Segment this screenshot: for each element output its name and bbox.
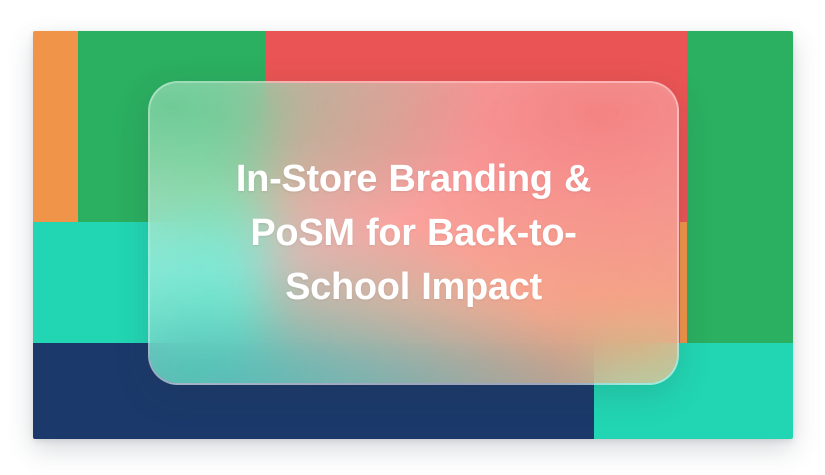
title-card-content: In-Store Branding &PoSM for Back-to-Scho… — [150, 152, 677, 314]
slide-title-line: PoSM for Back-to- — [250, 212, 576, 254]
frosted-glass-title-card: In-Store Branding &PoSM for Back-to-Scho… — [148, 81, 679, 385]
block-orange-left-top — [33, 31, 78, 222]
slide-title-line: In-Store Branding & — [236, 158, 591, 200]
block-green-top-right — [687, 31, 793, 222]
slide-title: In-Store Branding &PoSM for Back-to-Scho… — [184, 152, 643, 314]
slide-title-line: School Impact — [285, 266, 542, 308]
block-green-mid-right — [687, 222, 793, 343]
block-orange-right-mid — [680, 222, 687, 343]
slide-canvas: In-Store Branding &PoSM for Back-to-Scho… — [0, 0, 825, 475]
